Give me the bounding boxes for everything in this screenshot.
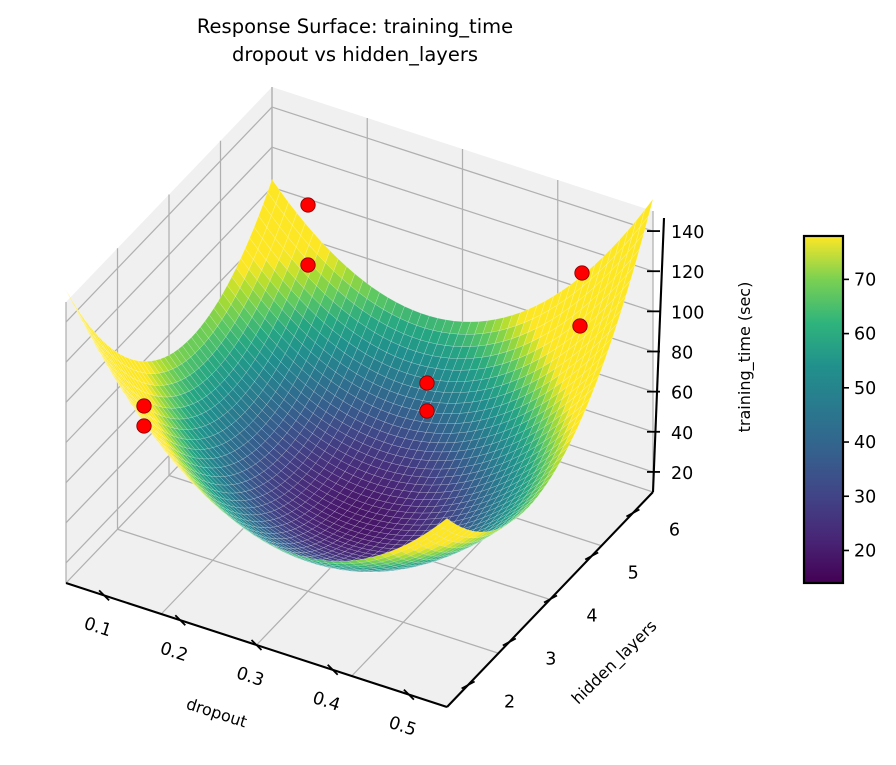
y-tick-label: 5 <box>628 564 639 584</box>
z-axis-label: training_time (sec) <box>735 282 755 433</box>
colorbar-tick-label: 70 <box>854 270 876 290</box>
y-tick-label: 2 <box>504 693 515 713</box>
y-tick-label: 3 <box>545 650 556 670</box>
plot-title-line2: dropout vs hidden_layers <box>232 43 478 66</box>
scatter-point[interactable] <box>137 399 151 413</box>
z-axis-spine <box>653 218 664 492</box>
y-axis-label: hidden_layers <box>568 616 661 708</box>
response-surface-3d-plot: Response Surface: training_time dropout … <box>0 0 896 765</box>
colorbar[interactable]: 203040506070 <box>804 236 876 583</box>
axes3d-scene <box>66 87 653 707</box>
colorbar-ticks: 203040506070 <box>843 270 876 561</box>
x-tick-label: 0.2 <box>158 639 191 667</box>
plot-title-line1: Response Surface: training_time <box>197 15 513 38</box>
z-tick-label: 120 <box>671 263 704 283</box>
x-tick-label: 0.3 <box>234 663 267 691</box>
z-tick-label: 80 <box>671 344 693 364</box>
x-tick-label: 0.5 <box>386 713 419 741</box>
y-tick-label: 6 <box>669 521 680 541</box>
figure-canvas: Response Surface: training_time dropout … <box>0 0 896 765</box>
scatter-point[interactable] <box>420 404 434 418</box>
x-axis-label: dropout <box>184 694 249 731</box>
scatter-point[interactable] <box>301 258 315 272</box>
colorbar-tick-label: 30 <box>854 487 876 507</box>
scatter-point[interactable] <box>573 319 587 333</box>
scatter-point[interactable] <box>420 376 434 390</box>
scatter-point[interactable] <box>301 198 315 212</box>
x-tick-label: 0.4 <box>310 688 343 716</box>
z-tick-label: 60 <box>671 384 693 404</box>
colorbar-tick-label: 40 <box>854 433 876 453</box>
z-tick-label: 140 <box>671 223 704 243</box>
scatter-point[interactable] <box>137 419 151 433</box>
z-tick-label: 20 <box>671 464 693 484</box>
colorbar-tick-label: 20 <box>854 541 876 561</box>
colorbar-tick-label: 60 <box>854 325 876 345</box>
colorbar-gradient <box>804 236 843 583</box>
y-tick-label: 4 <box>586 607 597 627</box>
scatter-point[interactable] <box>575 266 589 280</box>
z-tick-label: 100 <box>671 303 704 323</box>
z-tick-label: 40 <box>671 424 693 444</box>
colorbar-tick-label: 50 <box>854 379 876 399</box>
x-tick-label: 0.1 <box>81 614 114 642</box>
